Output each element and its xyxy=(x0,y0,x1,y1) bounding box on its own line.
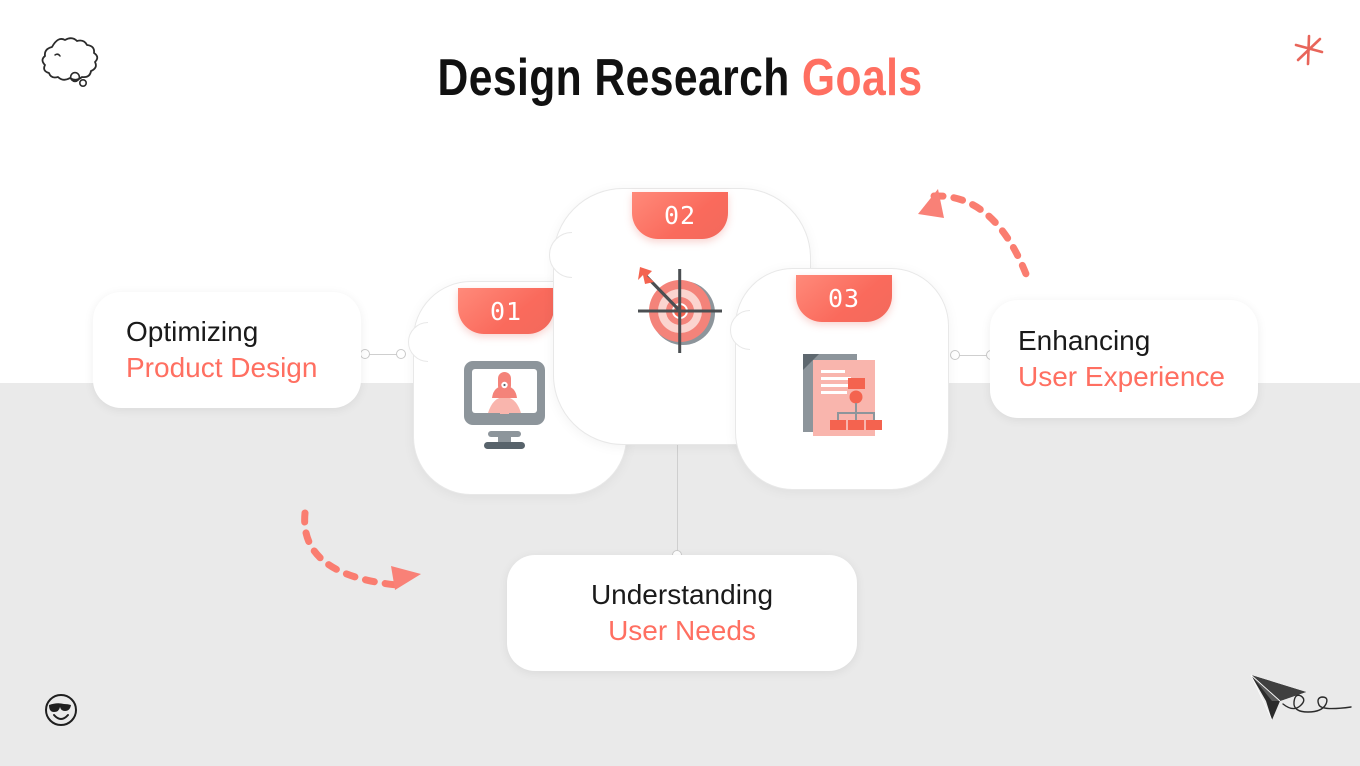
label-card-right-line2: User Experience xyxy=(1018,359,1225,395)
slide-canvas: Design Research Goals 01 02 xyxy=(0,0,1360,766)
desktop-monitor-icon xyxy=(462,358,547,453)
document-flowchart-icon xyxy=(799,346,891,440)
step-number-badge-03: 03 xyxy=(796,275,892,322)
thought-cloud-doodle xyxy=(38,25,108,87)
sparkle-asterisk-doodle xyxy=(1292,32,1326,68)
connector-dot-right-a xyxy=(950,350,960,360)
connector-dot-left-b xyxy=(396,349,406,359)
label-card-left-line1: Optimizing xyxy=(126,314,258,350)
label-card-right-line1: Enhancing xyxy=(1018,323,1150,359)
paper-plane-doodle xyxy=(1248,668,1354,730)
label-card-enhancing[interactable]: Enhancing User Experience xyxy=(990,300,1258,418)
step-card-02-notch-mask xyxy=(572,232,598,278)
step-number-badge-01: 01 xyxy=(458,288,554,334)
page-title: Design Research Goals xyxy=(122,48,1237,108)
label-card-optimizing[interactable]: Optimizing Product Design xyxy=(93,292,361,408)
step-number-badge-02: 02 xyxy=(632,192,728,239)
curved-dashed-arrow-right xyxy=(295,508,425,598)
page-title-main: Design Research xyxy=(438,49,802,107)
step-card-03-notch-mask xyxy=(750,310,774,350)
curved-dashed-arrow-left xyxy=(908,180,1038,278)
smiley-sunglasses-doodle xyxy=(44,693,78,727)
label-card-bottom-line2: User Needs xyxy=(608,613,756,649)
connector-dot-left-a xyxy=(360,349,370,359)
page-title-accent: Goals xyxy=(802,49,923,107)
label-card-left-line2: Product Design xyxy=(126,350,317,386)
label-card-bottom-line1: Understanding xyxy=(591,577,773,613)
step-card-01-notch-mask xyxy=(428,322,452,362)
target-bullseye-icon xyxy=(625,255,737,367)
label-card-understanding[interactable]: Understanding User Needs xyxy=(507,555,857,671)
